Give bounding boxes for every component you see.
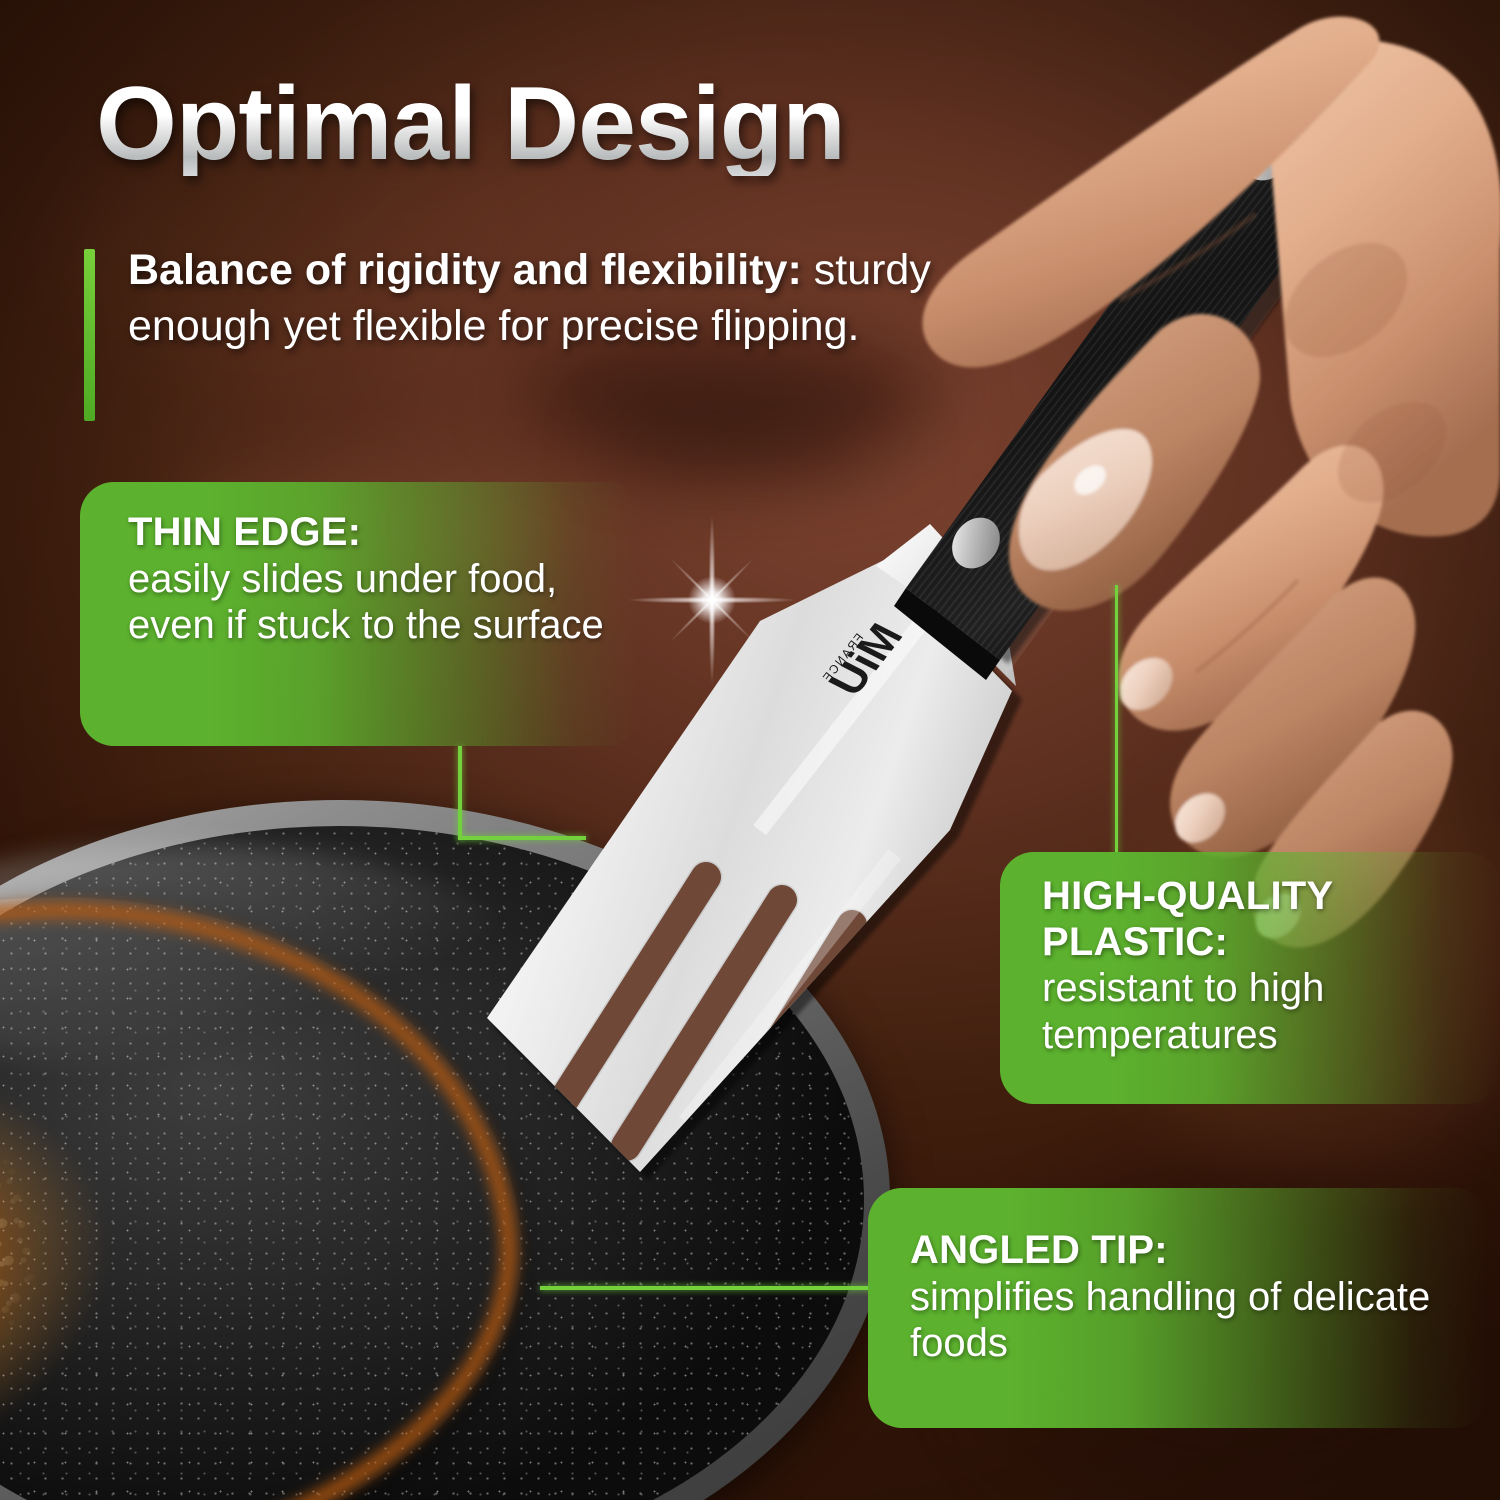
subheading-text: Balance of rigidity and flexibility: stu… [128, 243, 984, 355]
blade-sparkle-glint [627, 515, 797, 685]
callout-title: THIN EDGE: [128, 510, 640, 556]
leader-line-plastic [1115, 585, 1118, 855]
callout-thin-edge: THIN EDGE: easily slides under food, eve… [80, 482, 640, 746]
callout-body: resistant to high temperatures [1042, 965, 1500, 1059]
callout-high-quality-plastic: HIGH-QUALITY PLASTIC: resistant to high … [1000, 852, 1500, 1104]
callout-body: simplifies handling of delicate foods [910, 1274, 1488, 1368]
subheading-accent-bar [84, 249, 95, 421]
leader-line-thin-edge-vertical [458, 746, 462, 840]
product-infographic: MiU FRANCE [0, 0, 1500, 1500]
leader-line-angled-tip [540, 1286, 880, 1290]
callout-angled-tip: ANGLED TIP: simplifies handling of delic… [868, 1188, 1488, 1428]
page-title: Optimal Design [96, 72, 845, 176]
callout-body: easily slides under food, even if stuck … [128, 556, 640, 650]
hand-shape [923, 17, 1500, 948]
subheading-block: Balance of rigidity and flexibility: stu… [84, 243, 984, 355]
callout-title: ANGLED TIP: [910, 1228, 1488, 1274]
leader-line-thin-edge-horizontal [458, 836, 586, 840]
callout-title: HIGH-QUALITY PLASTIC: [1042, 874, 1500, 965]
subheading-bold: Balance of rigidity and flexibility: [128, 246, 802, 294]
